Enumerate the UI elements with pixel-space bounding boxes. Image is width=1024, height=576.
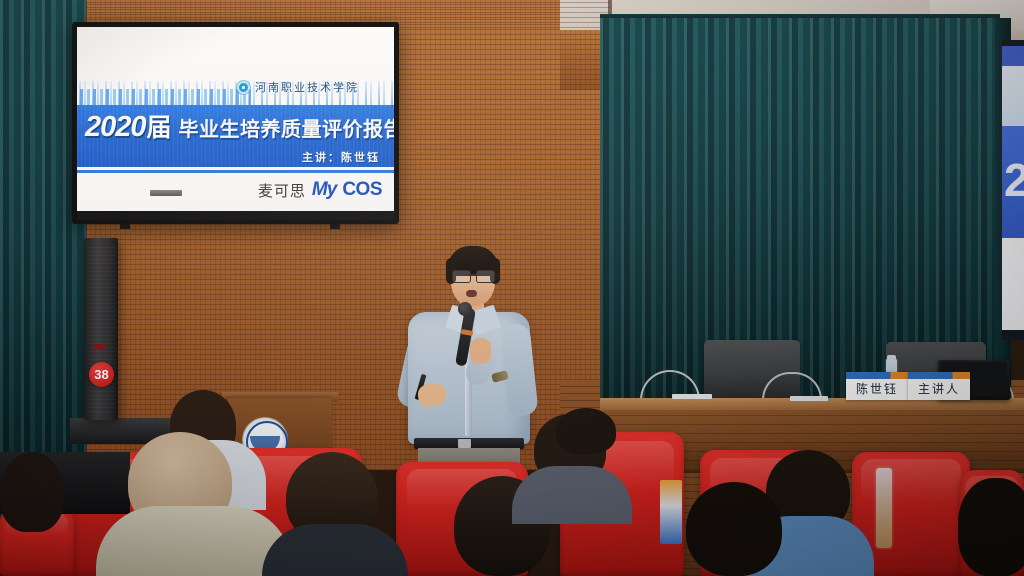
secondary-screen-digit: 2	[1004, 150, 1024, 210]
display-bezel-bottom	[77, 211, 394, 220]
presenter-hand-holding-mic	[470, 338, 491, 364]
secondary-screen-sky	[1002, 66, 1024, 126]
attendee-silhouette	[958, 478, 1024, 576]
handout-booklet	[660, 480, 682, 544]
microphone-head-icon	[458, 302, 472, 316]
attendee-silhouette	[556, 408, 616, 454]
thermos-bottle	[876, 468, 892, 548]
name-card-name: 主讲人	[908, 380, 970, 399]
name-card-header-bar: 河南职业技术学院	[846, 372, 908, 379]
conference-room-photo: 2 河南职业技术学院 陈世钰 河南职业技术学院 主讲人	[0, 0, 1024, 576]
presentation-slide: 河南职业技术学院 2020 届 毕业生培养质量评价报告解读会 主讲：陈世钰 麦可…	[77, 27, 394, 211]
main-display[interactable]: 河南职业技术学院 2020 届 毕业生培养质量评价报告解读会 主讲：陈世钰 麦可…	[72, 22, 399, 224]
microphone-base-2	[790, 396, 828, 401]
brand-name-my: My	[312, 179, 336, 201]
secondary-screen-top-band	[1002, 46, 1024, 66]
presenter-mouth	[466, 290, 477, 297]
display-mount-left	[120, 224, 130, 229]
presenter-person	[396, 246, 548, 478]
slide-year: 2020	[85, 113, 146, 142]
equipment-badge-38-label: 38	[89, 362, 114, 387]
name-card-speaker: 河南职业技术学院 陈世钰	[846, 372, 908, 400]
slide-title-row: 2020 届 毕业生培养质量评价报告解读会	[85, 113, 394, 142]
name-card-role: 河南职业技术学院 主讲人	[908, 372, 970, 400]
brand-name-cn: 麦可思	[258, 180, 306, 201]
institution-row: 河南职业技术学院	[237, 79, 359, 95]
loudspeaker-brand-label	[93, 344, 105, 349]
name-card-name: 陈世钰	[846, 380, 908, 399]
water-bottle-cap	[887, 355, 896, 360]
attendee-silhouette	[0, 452, 64, 532]
attendee-torso	[512, 466, 632, 524]
secondary-screen-white-area	[1002, 238, 1024, 330]
microphone-base-1	[672, 394, 712, 399]
name-card-header-bar: 河南职业技术学院	[908, 372, 970, 379]
mycos-logo: 麦可思 MyCOS	[258, 179, 382, 201]
slide-presenter-line: 主讲：陈世钰	[302, 149, 380, 165]
school-seal-icon	[237, 81, 250, 94]
eyeglasses-lens-right	[476, 270, 495, 283]
slide-year-suffix: 届	[147, 116, 172, 141]
eyeglasses-lens-left	[452, 270, 471, 283]
belt-buckle	[458, 439, 471, 448]
eyeglasses-bridge	[469, 274, 476, 276]
display-brand-plate	[150, 190, 182, 196]
slide-headline: 毕业生培养质量评价报告解读会	[179, 120, 394, 140]
attendee-silhouette	[686, 482, 782, 576]
display-mount-right	[330, 224, 340, 229]
institution-name: 河南职业技术学院	[255, 79, 359, 95]
brand-name-cos: COS	[342, 179, 382, 201]
